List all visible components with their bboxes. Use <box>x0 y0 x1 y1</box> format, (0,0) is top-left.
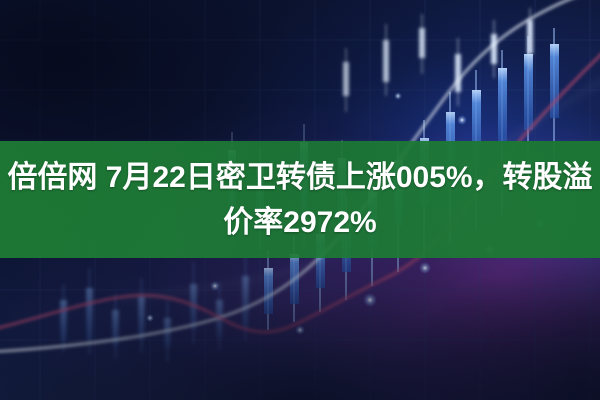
screenshot-root: 倍倍网 7月22日密卫转债上涨005%，转股溢价率2972% <box>0 0 600 400</box>
headline-text: 倍倍网 7月22日密卫转债上涨005%，转股溢价率2972% <box>0 155 600 245</box>
headline-banner: 倍倍网 7月22日密卫转债上涨005%，转股溢价率2972% <box>0 141 600 258</box>
